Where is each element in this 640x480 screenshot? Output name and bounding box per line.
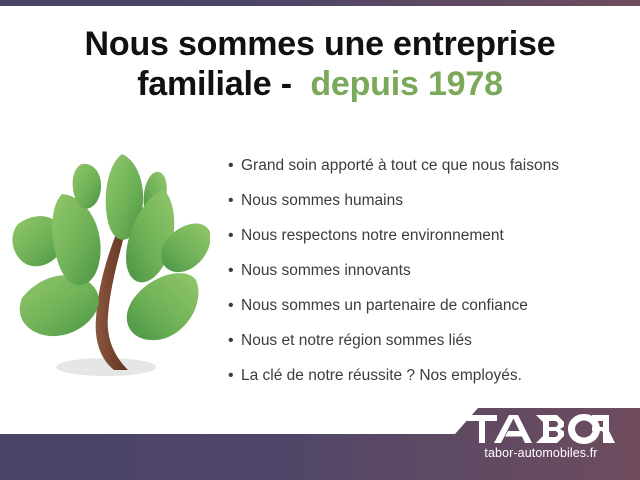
bullet-marker-icon: • xyxy=(228,218,241,253)
list-item: • La clé de notre réussite ? Nos employé… xyxy=(228,358,628,393)
family-tree-illustration xyxy=(10,148,210,392)
top-accent-strip xyxy=(0,0,640,6)
bullet-marker-icon: • xyxy=(228,253,241,288)
brand-url-label: tabor-automobiles.fr xyxy=(456,446,626,461)
page-title-line-1: Nous sommes une entreprise xyxy=(0,24,640,64)
list-item-label: Nous respectons notre environnement xyxy=(241,218,504,253)
list-item: • Nous et notre région sommes liés xyxy=(228,323,628,358)
tree-trunk xyxy=(96,234,128,370)
page-title-accent: depuis 1978 xyxy=(310,65,502,103)
tree-svg xyxy=(10,148,210,392)
list-item-label: Nous sommes un partenaire de confiance xyxy=(241,288,528,323)
list-item: • Nous sommes humains xyxy=(228,183,628,218)
list-item: • Nous sommes un partenaire de confiance xyxy=(228,288,628,323)
tree-leaf-right-lower xyxy=(127,273,199,340)
list-item: • Nous respectons notre environnement xyxy=(228,218,628,253)
bullet-marker-icon: • xyxy=(228,288,241,323)
page-title-line-2: familiale - depuis 1978 xyxy=(0,64,640,104)
page-title-line-2-plain: familiale - xyxy=(137,65,310,103)
bullet-marker-icon: • xyxy=(228,148,241,183)
list-item-label: Nous sommes innovants xyxy=(241,253,411,288)
bullet-marker-icon: • xyxy=(228,358,241,393)
list-item-label: Nous sommes humains xyxy=(241,183,403,218)
list-item-label: Nous et notre région sommes liés xyxy=(241,323,472,358)
bullet-marker-icon: • xyxy=(228,183,241,218)
brand-banner: tabor-automobiles.fr xyxy=(0,400,640,480)
page-title: Nous sommes une entreprise familiale - d… xyxy=(0,24,640,104)
bullet-marker-icon: • xyxy=(228,323,241,358)
brand-lockup[interactable]: tabor-automobiles.fr xyxy=(456,414,626,461)
slide-canvas: Nous sommes une entreprise familiale - d… xyxy=(0,0,640,480)
value-list: • Grand soin apporté à tout ce que nous … xyxy=(228,148,628,393)
tree-leaf-left-lower xyxy=(20,275,99,336)
tabor-logo-icon xyxy=(466,414,616,444)
list-item-label: Grand soin apporté à tout ce que nous fa… xyxy=(241,148,559,183)
list-item: • Grand soin apporté à tout ce que nous … xyxy=(228,148,628,183)
list-item: • Nous sommes innovants xyxy=(228,253,628,288)
list-item-label: La clé de notre réussite ? Nos employés. xyxy=(241,358,522,393)
tree-leaf-left-upper xyxy=(52,194,100,285)
